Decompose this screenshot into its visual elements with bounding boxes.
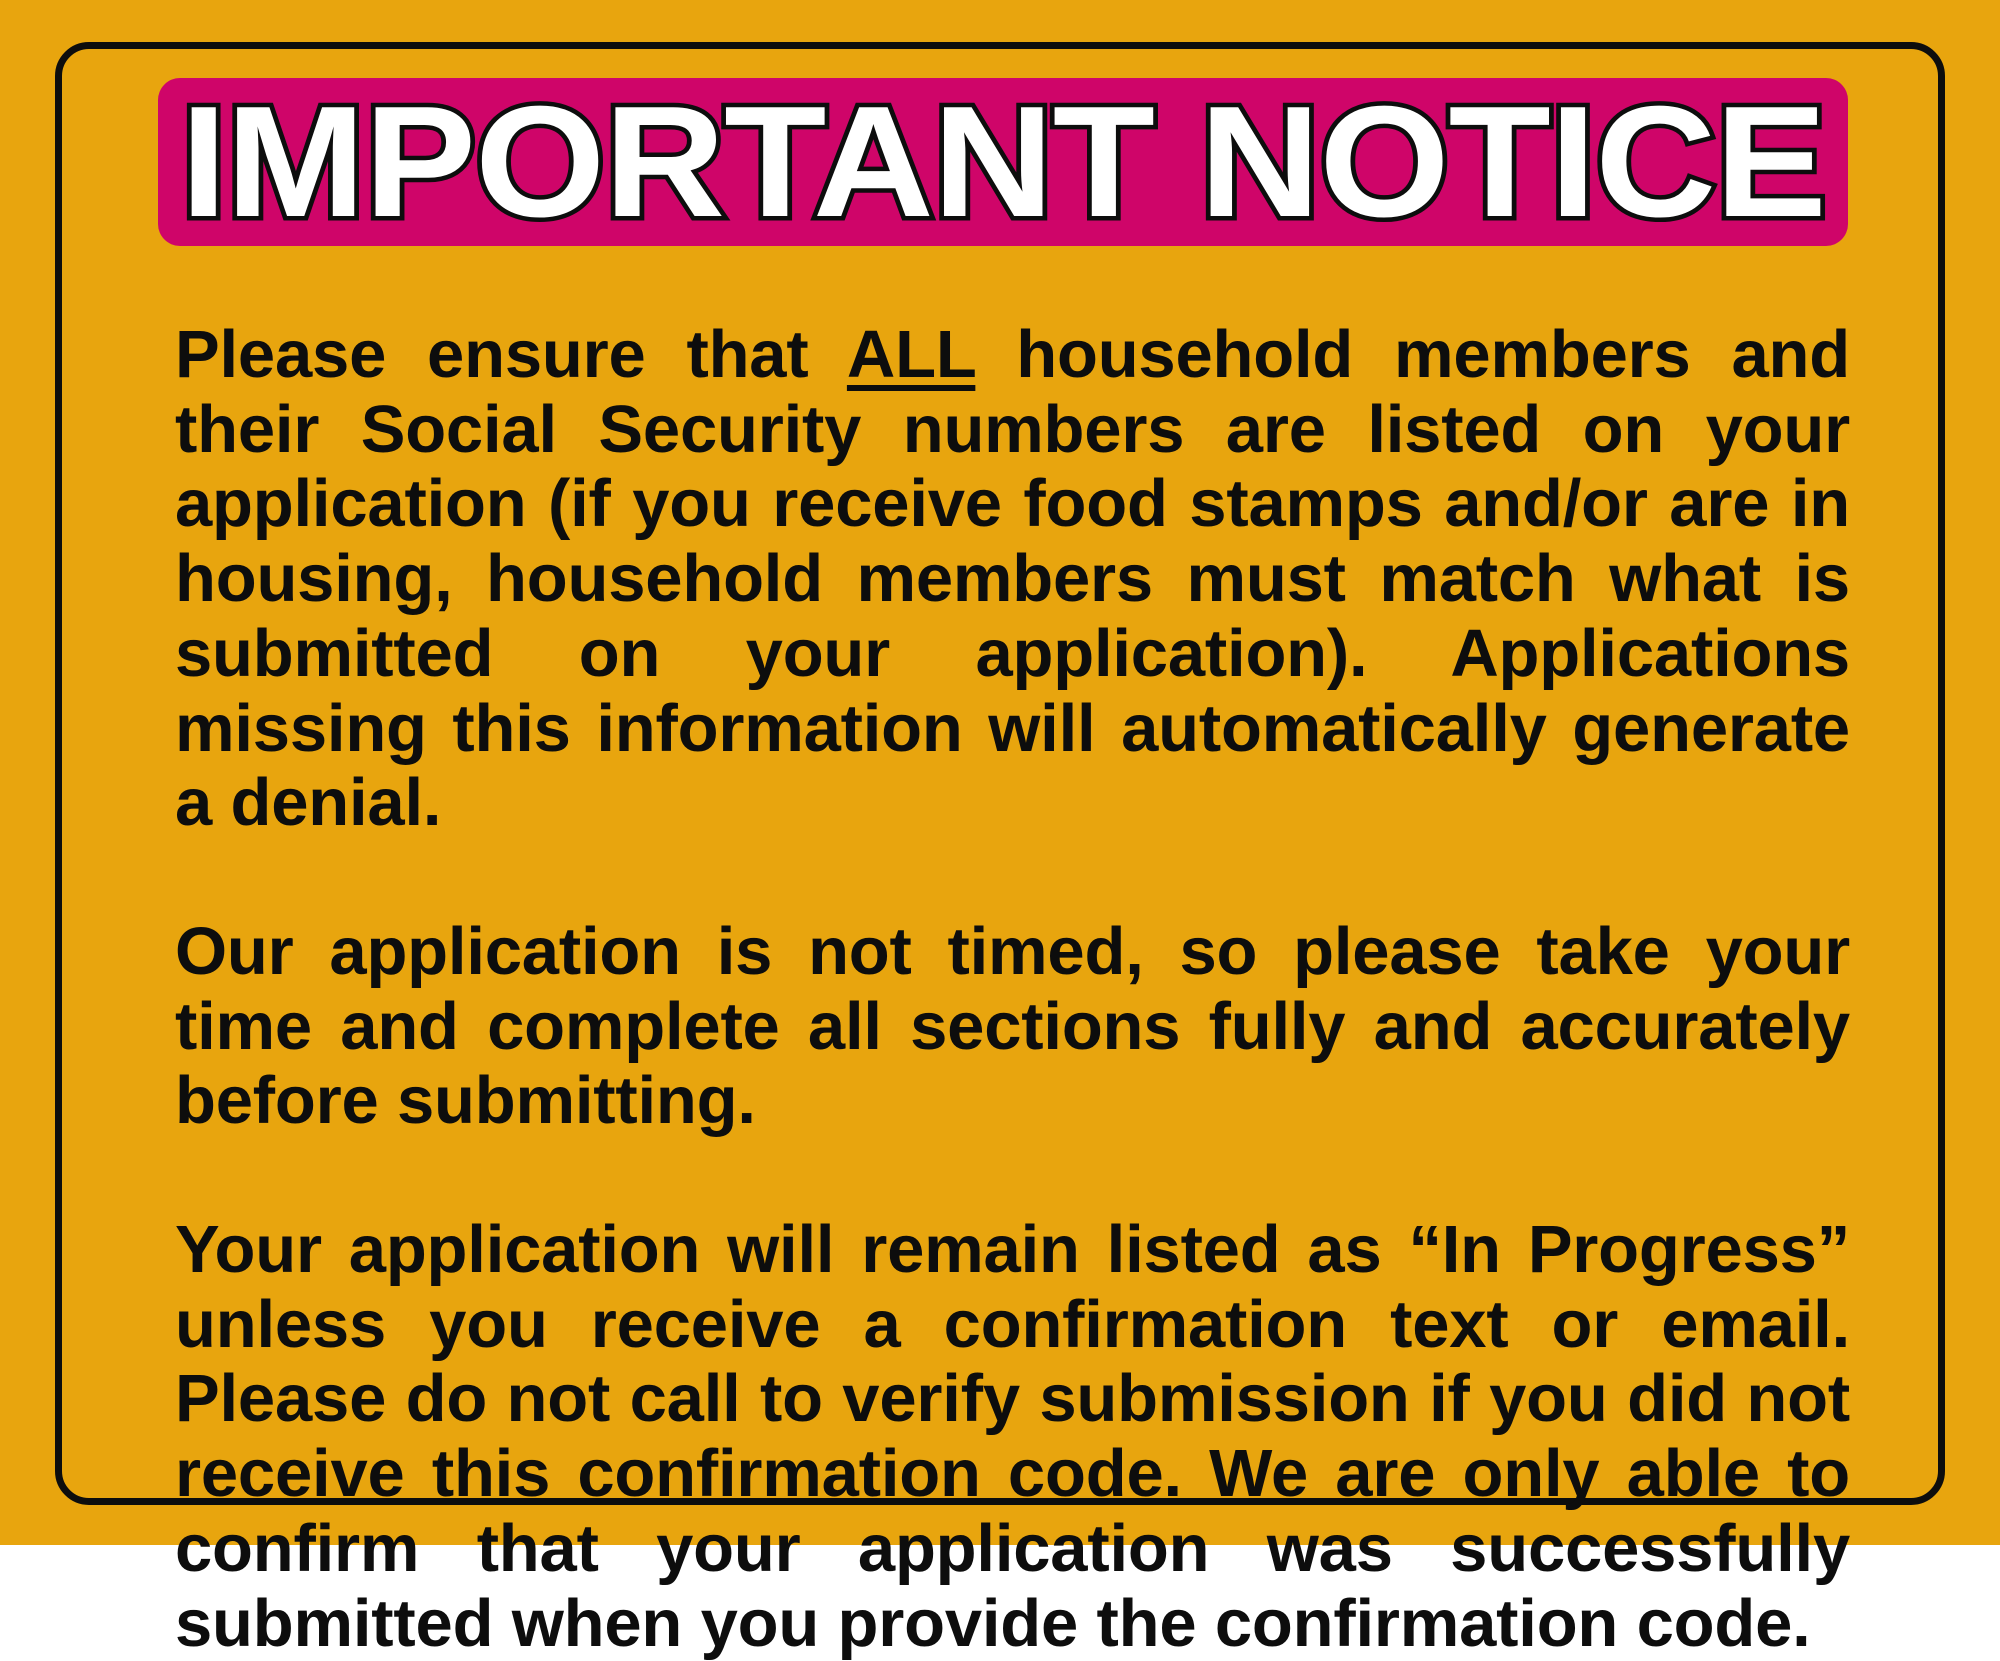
important-notice-poster: IMPORTANT NOTICE Please ensure that ALL … bbox=[0, 0, 2000, 1545]
notice-body: Please ensure that ALL household members… bbox=[175, 318, 1850, 1661]
paragraph-household-members: Please ensure that ALL household members… bbox=[175, 318, 1850, 841]
paragraph-not-timed: Our application is not timed, so please … bbox=[175, 915, 1850, 1139]
paragraph-in-progress-confirmation: Your application will remain listed as “… bbox=[175, 1213, 1850, 1661]
title-banner: IMPORTANT NOTICE bbox=[158, 78, 1848, 246]
emphasis-underline: ALL bbox=[847, 317, 975, 392]
page-title: IMPORTANT NOTICE bbox=[176, 83, 1830, 241]
